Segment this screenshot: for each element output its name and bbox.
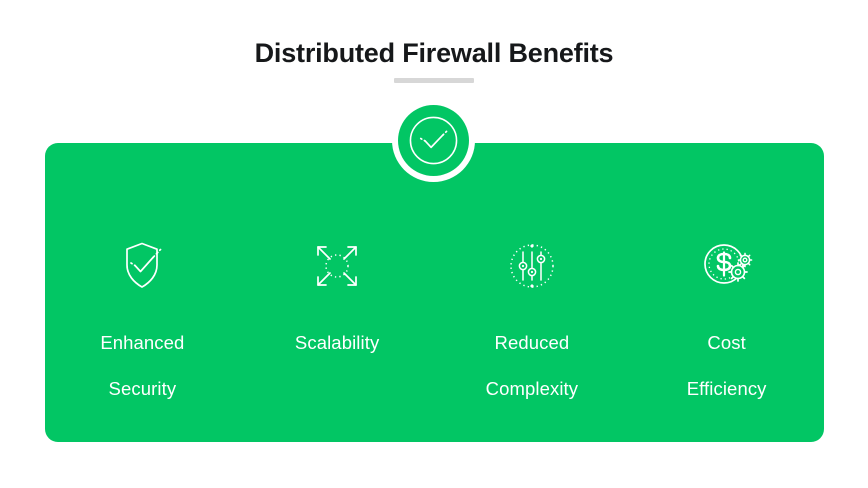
feature-label-line1: Scalability — [295, 332, 379, 353]
feature-label-line2: Efficiency — [687, 378, 767, 399]
feature-label-line1: Enhanced — [100, 332, 184, 353]
dollar-gears-icon — [700, 240, 754, 292]
check-circle-icon — [408, 115, 459, 166]
feature-item-cost-efficiency[interactable]: Cost Efficiency — [636, 240, 818, 400]
sliders-icon — [505, 240, 559, 292]
feature-label-line2: Security — [109, 378, 177, 399]
slide-canvas: Distributed Firewall Benefits Enhanced S — [0, 0, 868, 488]
expand-arrows-icon — [310, 240, 364, 292]
feature-label: Reduced Complexity — [486, 308, 579, 400]
feature-label-line2: Complexity — [486, 378, 579, 399]
shield-check-icon — [115, 240, 169, 292]
page-title: Distributed Firewall Benefits — [0, 36, 868, 70]
feature-item-scalability[interactable]: Scalability — [246, 240, 428, 354]
feature-item-reduced-complexity[interactable]: Reduced Complexity — [441, 240, 623, 400]
feature-item-enhanced-security[interactable]: Enhanced Security — [51, 240, 233, 400]
feature-label: Scalability — [295, 308, 379, 354]
title-divider — [394, 78, 474, 83]
feature-list: Enhanced Security Scala — [45, 240, 824, 365]
check-badge — [392, 99, 475, 182]
feature-label-line1: Reduced — [494, 332, 569, 353]
feature-label: Enhanced Security — [100, 308, 184, 400]
feature-label: Cost Efficiency — [687, 308, 767, 400]
feature-label-line1: Cost — [707, 332, 745, 353]
